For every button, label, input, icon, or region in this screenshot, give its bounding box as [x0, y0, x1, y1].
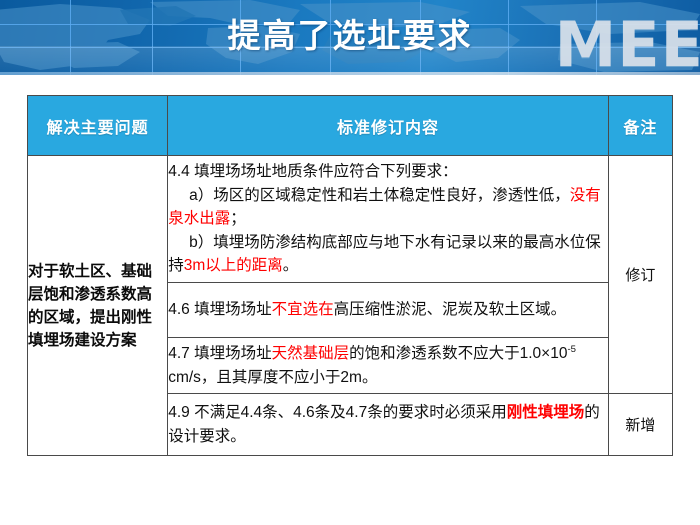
slide-banner: MEE 提高了选址要求 [0, 0, 700, 75]
table-header-row: 解决主要问题 标准修订内容 备注 [28, 96, 673, 156]
note-cell-added: 新增 [608, 394, 672, 456]
clause-4-6-text: 填埋场场址 [194, 301, 272, 318]
item-a-text-end: ； [230, 210, 246, 227]
clause-4-4-cell: 4.4 填埋场场址地质条件应符合下列要求： a）场区的区域稳定性和岩土体稳定性良… [168, 156, 609, 283]
column-header-note: 备注 [608, 96, 672, 156]
clause-4-9-text: 不满足4.4条、4.6条及4.7条的要求时必须采用 [194, 404, 507, 421]
clause-4-7-number: 4.7 [168, 345, 190, 362]
clause-4-4-number: 4.4 [168, 163, 190, 180]
clause-4-9-number: 4.9 [168, 404, 190, 421]
item-a-label: a） [189, 187, 213, 204]
clause-4-6-highlight: 不宜选在 [272, 301, 334, 318]
note-cell-revised: 修订 [608, 156, 672, 394]
item-b-highlight: 3m以上的距离 [184, 257, 283, 274]
item-a-text: 场区的区域稳定性和岩土体稳定性良好，渗透性低， [213, 187, 570, 204]
column-header-content: 标准修订内容 [168, 96, 609, 156]
clause-4-6-cell: 4.6 填埋场场址不宜选在高压缩性淤泥、泥炭及软土区域。 [168, 283, 609, 338]
problem-description-cell: 对于软土区、基础层饱和渗透系数高的区域，提出刚性填埋场建设方案 [28, 156, 168, 456]
clause-4-4-line-1: 4.4 填埋场场址地质条件应符合下列要求： [168, 160, 608, 184]
clause-4-9-cell: 4.9 不满足4.4条、4.6条及4.7条的要求时必须采用刚性填埋场的设计要求。 [168, 394, 609, 456]
revision-table: 解决主要问题 标准修订内容 备注 对于软土区、基础层饱和渗透系数高的区域，提出刚… [27, 95, 673, 456]
clause-4-7-highlight: 天然基础层 [272, 345, 350, 362]
clause-4-4-item-b: b）填埋场防渗结构底部应与地下水有记录以来的最高水位保持3m以上的距离。 [168, 231, 608, 278]
revision-table-container: 解决主要问题 标准修订内容 备注 对于软土区、基础层饱和渗透系数高的区域，提出刚… [27, 95, 673, 456]
banner-underline [0, 72, 700, 75]
slide-title: 提高了选址要求 [0, 16, 700, 56]
clause-4-7-cell: 4.7 填埋场场址天然基础层的饱和渗透系数不应大于1.0×10-5 cm/s，且… [168, 338, 609, 394]
item-b-label: b） [189, 234, 213, 251]
clause-4-6-text-end: 高压缩性淤泥、泥炭及软土区域。 [334, 301, 567, 318]
clause-4-7-exponent: -5 [567, 344, 576, 355]
slide-root: MEE 提高了选址要求 解决主要问题 标准修订内容 备注 对于软土区、基础层饱和… [0, 0, 700, 525]
table-row: 对于软土区、基础层饱和渗透系数高的区域，提出刚性填埋场建设方案 4.4 填埋场场… [28, 156, 673, 283]
clause-4-7-text-mid: 的饱和渗透系数不应大于1.0×10 [349, 345, 567, 362]
clause-4-7-text-end: cm/s，且其厚度不应小于2m。 [168, 369, 377, 386]
clause-4-6-number: 4.6 [168, 301, 190, 318]
item-b-text-end: 。 [283, 257, 299, 274]
clause-4-9-highlight: 刚性填埋场 [507, 404, 585, 421]
clause-4-4-line-1-text: 填埋场场址地质条件应符合下列要求： [194, 163, 458, 180]
clause-4-4-item-a: a）场区的区域稳定性和岩土体稳定性良好，渗透性低，没有泉水出露； [168, 184, 608, 231]
clause-4-7-text: 填埋场场址 [194, 345, 272, 362]
column-header-problem: 解决主要问题 [28, 96, 168, 156]
